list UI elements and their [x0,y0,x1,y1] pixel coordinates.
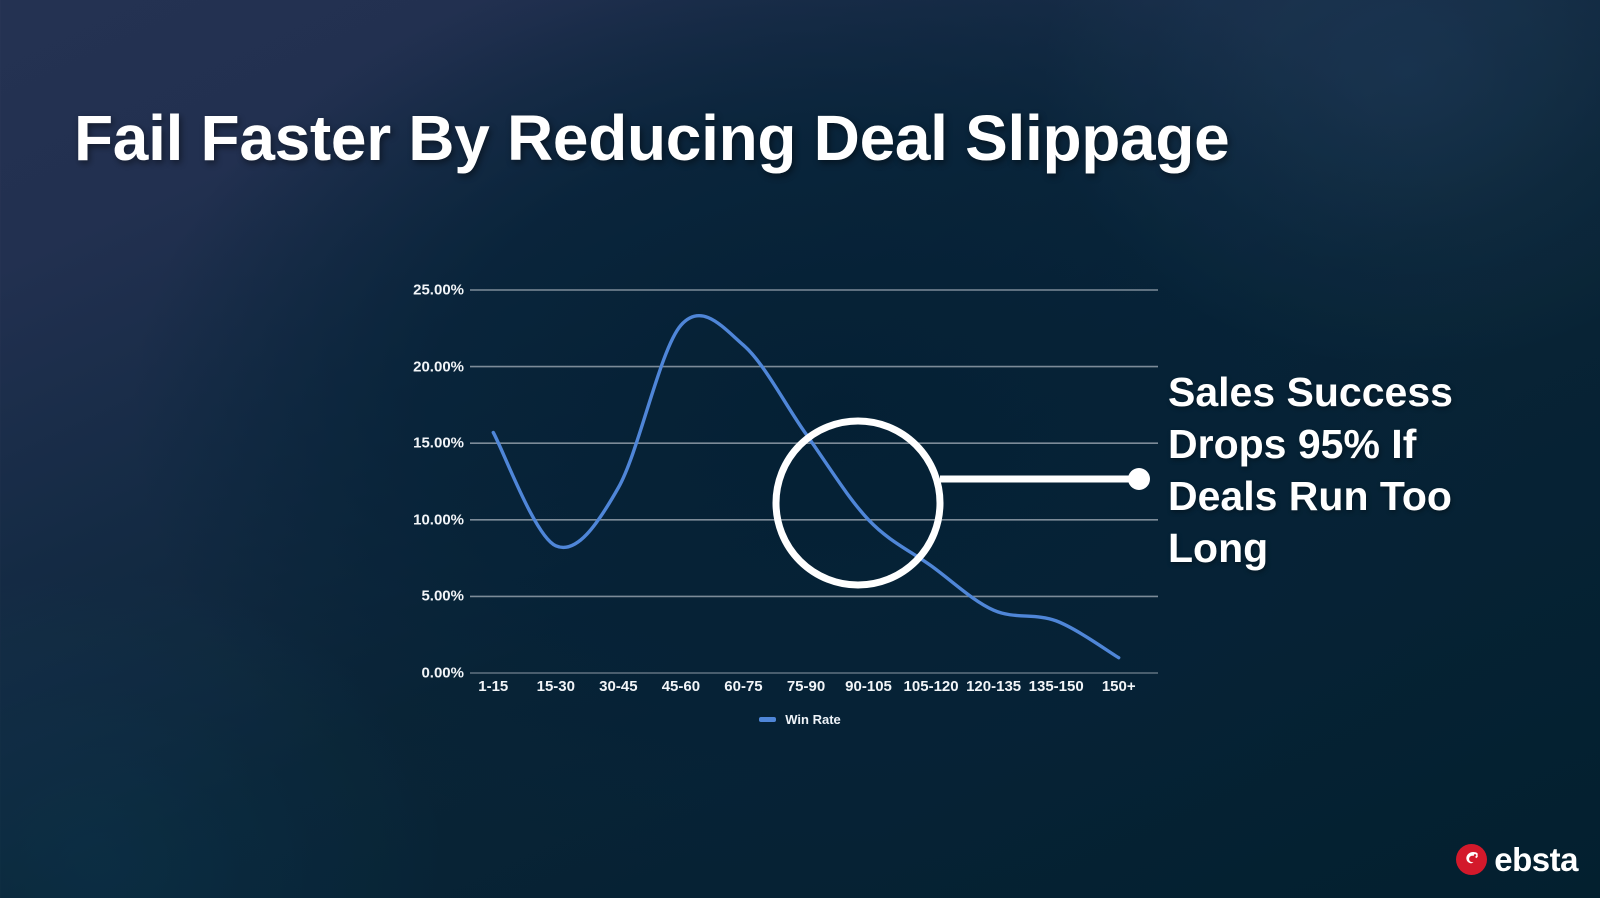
x-axis-tick-label: 1-15 [478,678,508,695]
x-axis-tick-label: 135-150 [1029,678,1084,695]
x-axis-tick-label: 45-60 [662,678,700,695]
y-axis-tick-label: 0.00% [421,665,464,682]
slide-canvas: Fail Faster By Reducing Deal Slippage 25… [0,0,1600,898]
x-axis-tick-label: 60-75 [724,678,762,695]
x-axis-tick-label: 15-30 [537,678,575,695]
y-axis-tick-label: 5.00% [421,588,464,605]
y-axis-tick-label: 10.00% [413,511,464,528]
x-axis-tick-label: 120-135 [966,678,1021,695]
y-axis-tick-label: 15.00% [413,435,464,452]
y-axis-tick-label: 25.00% [413,282,464,299]
x-axis-tick-label: 90-105 [845,678,892,695]
x-axis-labels: 1-1515-3030-4545-6060-7575-9090-105105-1… [470,678,1160,702]
callout-text: Sales Success Drops 95% If Deals Run Too… [1168,366,1468,574]
ebsta-wordmark: ebsta [1494,843,1578,876]
ebsta-mark-icon [1456,844,1487,875]
x-axis-tick-label: 150+ [1102,678,1136,695]
page-title: Fail Faster By Reducing Deal Slippage [74,101,1229,175]
y-axis-tick-label: 20.00% [413,358,464,375]
x-axis-tick-label: 75-90 [787,678,825,695]
x-axis-tick-label: 30-45 [599,678,637,695]
x-axis-tick-label: 105-120 [904,678,959,695]
chart-gridlines [470,290,1158,673]
ebsta-logo: ebsta [1456,843,1578,876]
